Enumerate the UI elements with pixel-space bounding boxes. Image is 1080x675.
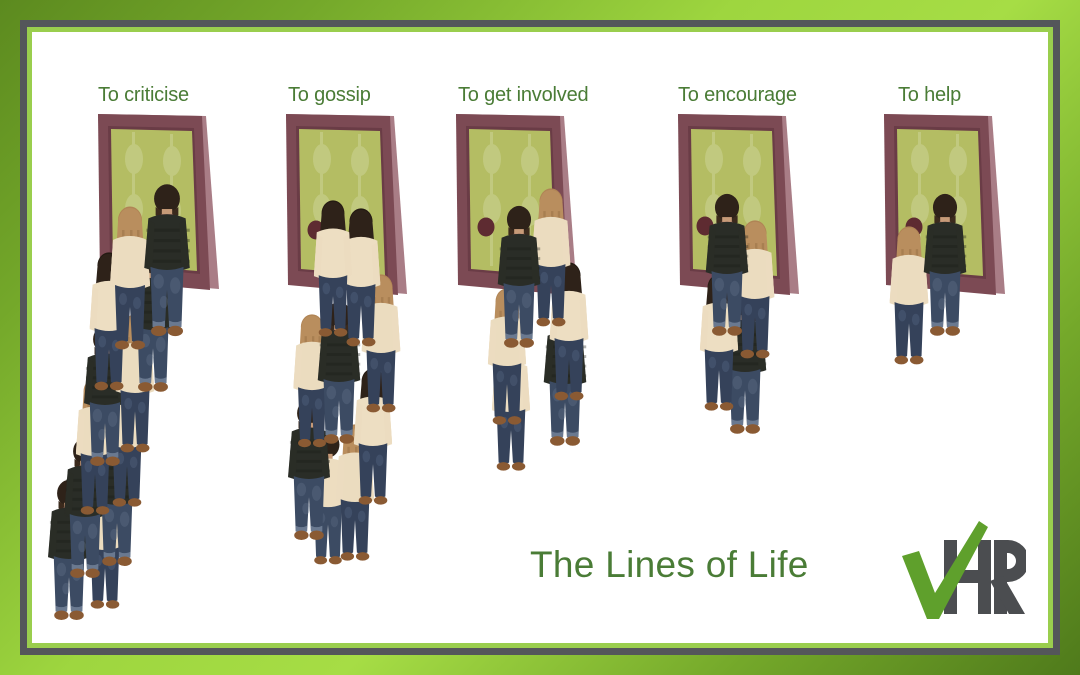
column-label-help: To help [898,84,961,107]
vhr-logo [898,518,1026,624]
queue1-person-1 [136,182,198,358]
column-label-criticise: To criticise [98,84,189,107]
footer-title: The Lines of Life [530,544,809,586]
poster-root: To criticise To gossip To get involved T… [0,0,1080,675]
queue4-person-1 [698,192,756,356]
queue2-person-1 [304,198,362,360]
poster-canvas: To criticise To gossip To get involved T… [32,32,1048,643]
queue3-person-1 [490,204,548,368]
column-label-get-involved: To get involved [458,84,588,107]
queue5-person-1 [916,192,974,356]
hr-logo-icon [898,518,1026,624]
column-label-encourage: To encourage [678,84,797,107]
column-label-gossip: To gossip [288,84,371,107]
